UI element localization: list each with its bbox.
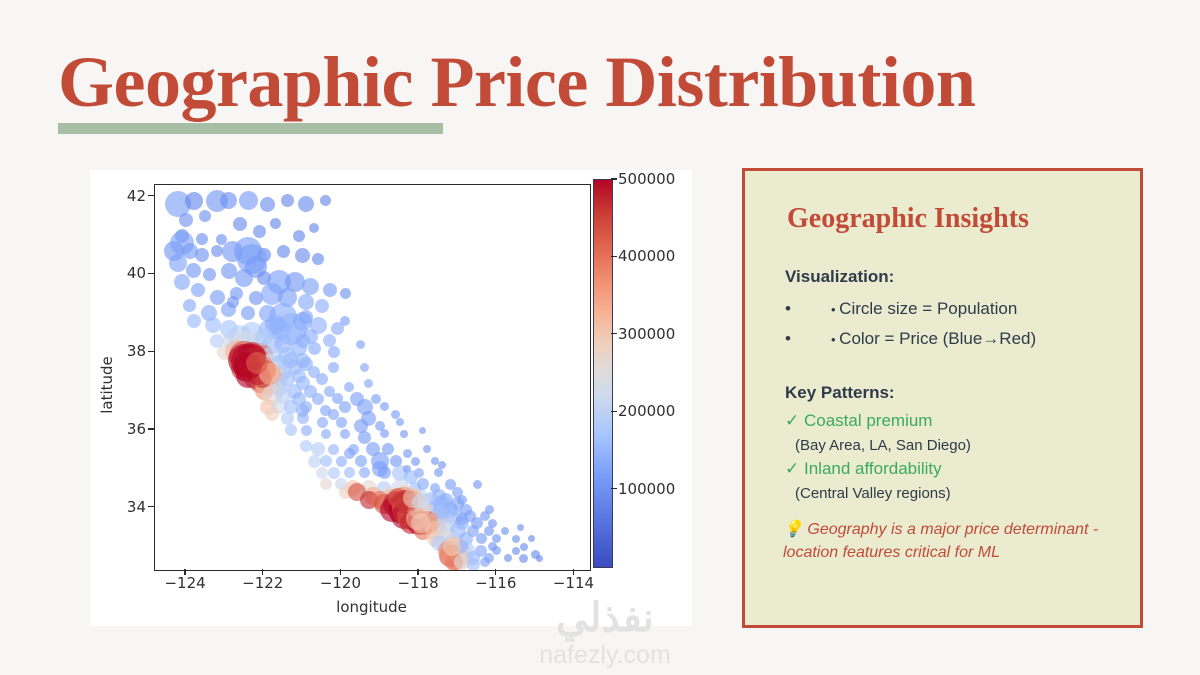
scatter-point (476, 533, 487, 544)
scatter-point (403, 449, 412, 458)
scatter-point (308, 455, 321, 468)
visualization-item-1: Color = Price (Blue→Red) (785, 329, 1036, 349)
outer-bullet-icon (785, 329, 831, 349)
insights-card: Geographic Insights Visualization: Circl… (742, 168, 1143, 628)
scatter-point (480, 557, 490, 567)
key-patterns-heading: Key Patterns: (785, 383, 895, 403)
scatter-point (283, 352, 299, 368)
scatter-point (501, 527, 509, 535)
scatter-point (205, 317, 221, 333)
scatter-point (380, 429, 389, 438)
scatter-point (298, 196, 314, 212)
inner-bullet-icon (831, 299, 839, 318)
scatter-point (434, 468, 443, 477)
scatter-point (323, 334, 336, 347)
colorbar-tick-mark (611, 333, 617, 334)
y-tick-mark (148, 506, 154, 507)
scatter-point (473, 480, 482, 489)
pattern-1-label: Inland affordability (804, 459, 942, 478)
scatter-point (270, 218, 281, 229)
scatter-point (320, 478, 332, 490)
x-tick-label: −116 (475, 574, 516, 592)
scatter-point (411, 457, 420, 466)
colorbar-tick-label: 300000 (618, 325, 675, 343)
scatter-point (361, 411, 376, 426)
y-tick-mark (148, 273, 154, 274)
scatter-point (312, 253, 324, 265)
scatter-point (308, 342, 321, 355)
scatter-point (233, 217, 247, 231)
scatter-point (277, 245, 290, 258)
x-tick-label: −118 (397, 574, 438, 592)
scatter-point (293, 230, 305, 242)
scatter-plot-area (154, 184, 591, 571)
scatter-point (380, 402, 389, 411)
colorbar-tick-label: 500000 (618, 170, 675, 188)
scatter-point (400, 430, 408, 438)
scatter-point (315, 299, 329, 313)
scatter-point (265, 407, 279, 421)
pattern-1: ✓ Inland affordability (785, 459, 942, 479)
scatter-point (536, 555, 543, 562)
scatter-point (255, 328, 273, 346)
scatter-point (253, 225, 266, 238)
scatter-point (360, 363, 369, 372)
scatter-point (520, 543, 528, 551)
x-tick-label: −122 (242, 574, 283, 592)
y-tick-label: 34 (90, 498, 146, 516)
scatter-point (302, 278, 319, 295)
scatter-point (417, 478, 429, 490)
scatter-point (328, 362, 339, 373)
y-tick-label: 40 (90, 264, 146, 282)
scatter-point (216, 234, 227, 245)
scatter-point (239, 191, 258, 210)
pattern-0: ✓ Coastal premium (785, 411, 932, 431)
scatter-point (195, 248, 209, 262)
scatter-point (179, 213, 193, 227)
lightbulb-icon: 💡 (783, 521, 803, 538)
colorbar (593, 179, 613, 568)
title-underline-bar (58, 123, 443, 134)
page-title: Geographic Price Distribution (58, 46, 975, 118)
scatter-point (246, 352, 268, 374)
scatter-point (235, 269, 253, 287)
scatter-point (323, 283, 337, 297)
scatter-point (340, 316, 350, 326)
scatter-point (419, 427, 426, 434)
scatter-point (187, 314, 201, 328)
x-tick-mark (340, 569, 341, 575)
pattern-0-sub: (Bay Area, LA, San Diego) (795, 437, 971, 454)
colorbar-tick-mark (611, 256, 617, 257)
scatter-point (519, 554, 528, 563)
scatter-point (285, 424, 297, 436)
scatter-point (328, 467, 340, 479)
x-tick-mark (417, 569, 418, 575)
scatter-point (227, 296, 239, 308)
scatter-point (196, 233, 208, 245)
scatter-point (328, 444, 339, 455)
scatter-point (467, 558, 480, 571)
scatter-point (316, 373, 328, 385)
scatter-point (504, 554, 512, 562)
scatter-point (340, 288, 351, 299)
scatter-point (169, 254, 187, 272)
scatter-point (344, 382, 354, 392)
y-tick-mark (148, 351, 154, 352)
scatter-point (485, 505, 494, 514)
scatter-point (281, 194, 294, 207)
scatter-point (396, 418, 404, 426)
scatter-point (191, 283, 205, 297)
scatter-point (340, 429, 350, 439)
scatter-point (512, 535, 520, 543)
check-icon: ✓ (785, 411, 799, 430)
colorbar-tick-mark (611, 488, 617, 489)
chart-card: 3436384042 −124−122−120−118−116−114 lati… (90, 170, 692, 626)
x-tick-mark (573, 569, 574, 575)
watermark-latin: nafezly.com (505, 640, 705, 670)
scatter-point (321, 429, 331, 439)
scatter-point (423, 445, 431, 453)
scatter-point (512, 547, 520, 555)
scatter-point (296, 334, 310, 348)
scatter-point (241, 306, 255, 320)
scatter-point (411, 513, 431, 533)
scatter-point (320, 455, 332, 467)
scatter-point (438, 461, 446, 469)
scatter-point (183, 299, 196, 312)
y-tick-mark (148, 428, 154, 429)
inner-bullet-icon (831, 329, 839, 348)
scatter-point (203, 268, 216, 281)
scatter-point (320, 195, 331, 206)
scatter-point (371, 394, 381, 404)
scatter-point (174, 274, 190, 290)
scatter-point (328, 346, 340, 358)
scatter-point (356, 340, 365, 349)
scatter-point (336, 417, 347, 428)
x-tick-mark (495, 569, 496, 575)
x-tick-label: −120 (320, 574, 361, 592)
scatter-point (364, 379, 373, 388)
scatter-point (186, 263, 201, 278)
pattern-1-sub: (Central Valley regions) (795, 485, 951, 502)
tip-callout: 💡 Geography is a major price determinant… (783, 519, 1113, 564)
y-tick-label: 42 (90, 187, 146, 205)
y-axis-label: latitude (98, 340, 116, 430)
pattern-0-label: Coastal premium (804, 411, 933, 430)
scatter-point (359, 467, 370, 478)
x-tick-label: −114 (553, 574, 594, 592)
scatter-point (199, 210, 211, 222)
colorbar-tick-label: 400000 (618, 247, 675, 265)
scatter-point (316, 467, 328, 479)
scatter-point (260, 197, 275, 212)
x-tick-mark (184, 569, 185, 575)
scatter-point (295, 248, 310, 263)
scatter-point (185, 192, 203, 210)
scatter-point (317, 417, 328, 428)
visualization-item-0-label: Circle size = Population (839, 299, 1017, 318)
colorbar-tick-label: 100000 (618, 480, 675, 498)
visualization-item-0: Circle size = Population (785, 299, 1017, 319)
scatter-point (344, 448, 355, 459)
tip-text: Geography is a major price determinant -… (783, 521, 1098, 561)
visualization-heading: Visualization: (785, 267, 894, 287)
check-icon: ✓ (785, 459, 799, 478)
outer-bullet-icon (785, 299, 831, 319)
scatter-point (309, 223, 319, 233)
y-tick-mark (148, 195, 154, 196)
colorbar-tick-label: 200000 (618, 402, 675, 420)
x-tick-mark (262, 569, 263, 575)
visualization-item-1-label: Color = Price (Blue→Red) (839, 329, 1036, 348)
scatter-point (445, 479, 456, 490)
colorbar-tick-mark (611, 411, 617, 412)
colorbar-tick-mark (611, 178, 617, 179)
insights-heading: Geographic Insights (787, 203, 1029, 235)
scatter-point (312, 393, 324, 405)
scatter-point (355, 455, 367, 467)
x-axis-label: longitude (154, 598, 589, 616)
scatter-point (220, 192, 237, 209)
scatter-point (528, 535, 535, 542)
scatter-point (339, 401, 351, 413)
x-tick-label: −124 (164, 574, 205, 592)
scatter-point (281, 412, 294, 425)
scatter-point (517, 524, 524, 531)
scatter-point (344, 467, 355, 478)
scatter-point (298, 294, 314, 310)
scatter-point (301, 425, 312, 436)
